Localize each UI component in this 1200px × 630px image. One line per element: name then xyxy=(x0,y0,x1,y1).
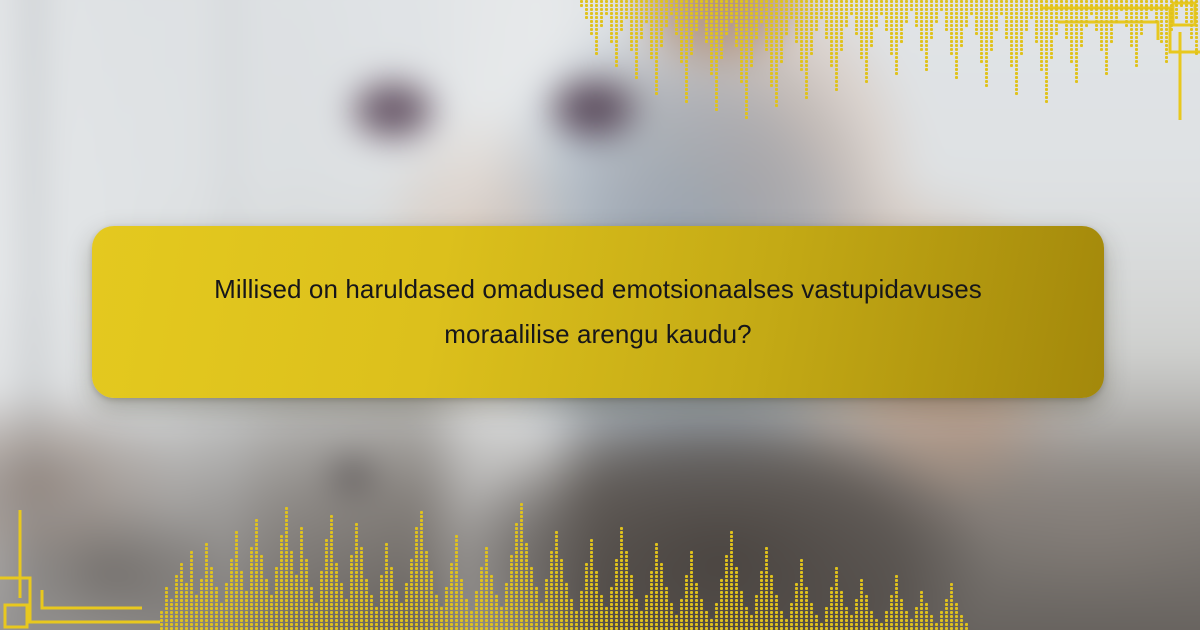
waveform-segment xyxy=(835,0,838,3)
waveform-segment xyxy=(805,603,808,606)
waveform-segment xyxy=(810,611,813,614)
question-card[interactable]: Millised on haruldased omadused emotsion… xyxy=(92,226,1104,398)
waveform-segment xyxy=(650,579,653,582)
waveform-segment xyxy=(775,100,778,103)
waveform-segment xyxy=(345,599,348,602)
waveform-segment xyxy=(475,591,478,594)
waveform-segment xyxy=(280,599,283,602)
waveform-segment xyxy=(710,28,713,31)
waveform-segment xyxy=(850,4,853,7)
waveform-segment xyxy=(640,8,643,11)
waveform-segment xyxy=(300,567,303,570)
waveform-segment xyxy=(870,0,873,3)
waveform-segment xyxy=(1045,24,1048,27)
waveform-segment xyxy=(695,611,698,614)
waveform-segment xyxy=(410,583,413,586)
waveform-segment xyxy=(655,32,658,35)
waveform-segment xyxy=(210,615,213,618)
waveform-segment xyxy=(590,619,593,622)
waveform-segment xyxy=(595,16,598,19)
waveform-segment xyxy=(600,595,603,598)
waveform-segment xyxy=(795,623,798,626)
waveform-segment xyxy=(480,579,483,582)
waveform-segment xyxy=(800,44,803,47)
waveform-segment xyxy=(850,12,853,15)
waveform-segment xyxy=(415,555,418,558)
waveform-bar xyxy=(425,551,428,630)
waveform-segment xyxy=(475,603,478,606)
waveform-segment xyxy=(1075,0,1078,3)
waveform-segment xyxy=(865,599,868,602)
waveform-segment xyxy=(645,619,648,622)
waveform-segment xyxy=(610,607,613,610)
waveform-segment xyxy=(950,24,953,27)
waveform-segment xyxy=(835,60,838,63)
waveform-bar xyxy=(1020,0,1023,55)
waveform-segment xyxy=(795,32,798,35)
waveform-segment xyxy=(250,599,253,602)
waveform-segment xyxy=(525,619,528,622)
waveform-segment xyxy=(460,611,463,614)
waveform-segment xyxy=(595,12,598,15)
waveform-segment xyxy=(985,32,988,35)
waveform-segment xyxy=(460,587,463,590)
waveform-segment xyxy=(520,563,523,566)
waveform-segment xyxy=(235,563,238,566)
waveform-segment xyxy=(275,623,278,626)
waveform-segment xyxy=(865,16,868,19)
waveform-segment xyxy=(820,12,823,15)
waveform-segment xyxy=(765,555,768,558)
waveform-segment xyxy=(1020,0,1023,3)
waveform-segment xyxy=(985,24,988,27)
waveform-segment xyxy=(310,607,313,610)
waveform-segment xyxy=(755,28,758,31)
waveform-segment xyxy=(620,603,623,606)
waveform-segment xyxy=(520,619,523,622)
waveform-segment xyxy=(1125,4,1128,7)
waveform-segment xyxy=(780,52,783,55)
waveform-segment xyxy=(585,4,588,7)
waveform-segment xyxy=(735,4,738,7)
waveform-segment xyxy=(280,591,283,594)
waveform-segment xyxy=(945,20,948,23)
waveform-bar xyxy=(1040,0,1043,71)
waveform-segment xyxy=(835,619,838,622)
waveform-segment xyxy=(1075,48,1078,51)
waveform-segment xyxy=(960,619,963,622)
waveform-segment xyxy=(925,607,928,610)
waveform-segment xyxy=(805,72,808,75)
waveform-segment xyxy=(350,603,353,606)
waveform-segment xyxy=(705,12,708,15)
waveform-segment xyxy=(305,591,308,594)
waveform-segment xyxy=(875,4,878,7)
waveform-segment xyxy=(1040,52,1043,55)
waveform-segment xyxy=(1165,28,1168,31)
waveform-segment xyxy=(165,615,168,618)
waveform-segment xyxy=(605,4,608,7)
waveform-segment xyxy=(700,16,703,19)
waveform-segment xyxy=(705,611,708,614)
waveform-segment xyxy=(260,571,263,574)
waveform-segment xyxy=(920,623,923,626)
waveform-segment xyxy=(1110,32,1113,35)
waveform-segment xyxy=(690,571,693,574)
waveform-segment xyxy=(335,623,338,626)
waveform-segment xyxy=(355,523,358,526)
waveform-segment xyxy=(520,603,523,606)
waveform-segment xyxy=(495,615,498,618)
waveform-segment xyxy=(1100,32,1103,35)
waveform-segment xyxy=(555,623,558,626)
waveform-bar xyxy=(765,547,768,630)
waveform-bar xyxy=(880,623,883,630)
waveform-segment xyxy=(610,615,613,618)
waveform-segment xyxy=(895,615,898,618)
waveform-segment xyxy=(900,24,903,27)
waveform-segment xyxy=(255,567,258,570)
waveform-segment xyxy=(320,607,323,610)
waveform-segment xyxy=(415,571,418,574)
waveform-segment xyxy=(720,611,723,614)
waveform-segment xyxy=(1015,36,1018,39)
waveform-bar xyxy=(705,611,708,630)
waveform-bar xyxy=(650,0,653,59)
waveform-segment xyxy=(190,551,193,554)
waveform-segment xyxy=(590,571,593,574)
waveform-segment xyxy=(600,8,603,11)
waveform-bar xyxy=(1025,0,1028,31)
waveform-segment xyxy=(890,40,893,43)
waveform-segment xyxy=(765,28,768,31)
waveform-bar xyxy=(760,0,763,23)
waveform-segment xyxy=(560,559,563,562)
waveform-segment xyxy=(830,8,833,11)
waveform-segment xyxy=(645,623,648,626)
waveform-segment xyxy=(965,24,968,27)
waveform-segment xyxy=(750,60,753,63)
waveform-segment xyxy=(1075,80,1078,83)
waveform-bar xyxy=(555,531,558,630)
waveform-segment xyxy=(625,16,628,19)
waveform-segment xyxy=(650,607,653,610)
waveform-bar xyxy=(945,599,948,630)
waveform-segment xyxy=(395,611,398,614)
waveform-bar xyxy=(420,511,423,630)
waveform-bar xyxy=(680,599,683,630)
waveform-segment xyxy=(800,603,803,606)
waveform-segment xyxy=(285,623,288,626)
waveform-segment xyxy=(635,76,638,79)
waveform-segment xyxy=(1050,20,1053,23)
waveform-segment xyxy=(520,599,523,602)
waveform-segment xyxy=(465,623,468,626)
waveform-segment xyxy=(800,4,803,7)
waveform-segment xyxy=(745,52,748,55)
waveform-bar xyxy=(845,0,848,27)
waveform-segment xyxy=(1070,20,1073,23)
waveform-segment xyxy=(865,607,868,610)
waveform-segment xyxy=(475,611,478,614)
waveform-segment xyxy=(745,80,748,83)
waveform-segment xyxy=(430,595,433,598)
waveform-segment xyxy=(370,595,373,598)
waveform-segment xyxy=(525,567,528,570)
waveform-segment xyxy=(885,24,888,27)
waveform-segment xyxy=(950,583,953,586)
waveform-segment xyxy=(845,12,848,15)
waveform-segment xyxy=(480,595,483,598)
waveform-segment xyxy=(655,587,658,590)
waveform-segment xyxy=(620,599,623,602)
waveform-segment xyxy=(1045,8,1048,11)
waveform-segment xyxy=(720,603,723,606)
waveform-segment xyxy=(720,8,723,11)
waveform-segment xyxy=(515,591,518,594)
waveform-segment xyxy=(945,611,948,614)
waveform-segment xyxy=(635,12,638,15)
waveform-segment xyxy=(1010,36,1013,39)
waveform-bar xyxy=(715,603,718,630)
waveform-segment xyxy=(560,567,563,570)
waveform-segment xyxy=(780,48,783,51)
waveform-segment xyxy=(575,619,578,622)
corner-bracket-icon xyxy=(0,510,160,630)
waveform-segment xyxy=(780,28,783,31)
waveform-bar xyxy=(985,0,988,87)
waveform-segment xyxy=(690,595,693,598)
waveform-segment xyxy=(630,607,633,610)
waveform-segment xyxy=(710,12,713,15)
waveform-segment xyxy=(550,615,553,618)
waveform-segment xyxy=(800,567,803,570)
waveform-segment xyxy=(225,607,228,610)
waveform-segment xyxy=(595,8,598,11)
waveform-segment xyxy=(985,60,988,63)
waveform-segment xyxy=(755,36,758,39)
waveform-segment xyxy=(170,607,173,610)
waveform-segment xyxy=(890,619,893,622)
waveform-bar xyxy=(850,615,853,630)
waveform-segment xyxy=(390,623,393,626)
waveform-bar xyxy=(935,0,938,23)
waveform-bar xyxy=(345,599,348,630)
waveform-segment xyxy=(905,619,908,622)
waveform-segment xyxy=(670,0,673,3)
waveform-bar xyxy=(605,607,608,630)
waveform-segment xyxy=(455,615,458,618)
waveform-segment xyxy=(925,32,928,35)
waveform-segment xyxy=(920,599,923,602)
waveform-segment xyxy=(615,599,618,602)
waveform-segment xyxy=(1095,0,1098,3)
waveform-segment xyxy=(450,567,453,570)
waveform-segment xyxy=(525,555,528,558)
waveform-segment xyxy=(940,619,943,622)
waveform-segment xyxy=(985,0,988,3)
waveform-segment xyxy=(1055,32,1058,35)
waveform-segment xyxy=(535,591,538,594)
waveform-segment xyxy=(595,599,598,602)
waveform-segment xyxy=(610,36,613,39)
waveform-segment xyxy=(975,16,978,19)
waveform-segment xyxy=(420,583,423,586)
waveform-segment xyxy=(355,583,358,586)
waveform-segment xyxy=(1150,8,1153,11)
waveform-segment xyxy=(835,579,838,582)
waveform-segment xyxy=(285,567,288,570)
waveform-segment xyxy=(1050,52,1053,55)
waveform-segment xyxy=(255,571,258,574)
waveform-segment xyxy=(800,559,803,562)
waveform-segment xyxy=(765,8,768,11)
waveform-segment xyxy=(990,12,993,15)
waveform-segment xyxy=(860,52,863,55)
waveform-segment xyxy=(1040,48,1043,51)
waveform-segment xyxy=(695,599,698,602)
waveform-segment xyxy=(830,607,833,610)
waveform-segment xyxy=(1010,60,1013,63)
waveform-segment xyxy=(645,8,648,11)
waveform-segment xyxy=(655,619,658,622)
waveform-segment xyxy=(815,0,818,3)
waveform-segment xyxy=(275,587,278,590)
waveform-segment xyxy=(180,567,183,570)
waveform-segment xyxy=(740,595,743,598)
waveform-segment xyxy=(720,56,723,59)
waveform-segment xyxy=(900,32,903,35)
waveform-segment xyxy=(280,563,283,566)
waveform-segment xyxy=(515,567,518,570)
waveform-segment xyxy=(660,611,663,614)
waveform-segment xyxy=(655,88,658,91)
waveform-segment xyxy=(1070,12,1073,15)
waveform-segment xyxy=(725,567,728,570)
waveform-segment xyxy=(295,599,298,602)
waveform-segment xyxy=(1110,28,1113,31)
waveform-segment xyxy=(1075,12,1078,15)
waveform-bar xyxy=(250,547,253,630)
waveform-segment xyxy=(720,44,723,47)
waveform-segment xyxy=(1045,0,1048,3)
waveform-segment xyxy=(895,64,898,67)
waveform-segment xyxy=(805,40,808,43)
waveform-bar xyxy=(1065,0,1068,39)
waveform-segment xyxy=(760,571,763,574)
waveform-segment xyxy=(520,583,523,586)
waveform-segment xyxy=(790,8,793,11)
waveform-segment xyxy=(1055,24,1058,27)
waveform-segment xyxy=(1180,4,1183,7)
waveform-segment xyxy=(680,52,683,55)
waveform-segment xyxy=(695,0,698,3)
waveform-segment xyxy=(325,623,328,626)
waveform-segment xyxy=(995,28,998,31)
waveform-segment xyxy=(685,88,688,91)
waveform-segment xyxy=(660,8,663,11)
waveform-segment xyxy=(490,583,493,586)
waveform-segment xyxy=(745,36,748,39)
waveform-segment xyxy=(520,571,523,574)
waveform-segment xyxy=(1135,12,1138,15)
waveform-bar xyxy=(900,0,903,43)
waveform-bar xyxy=(800,0,803,71)
waveform-segment xyxy=(355,619,358,622)
waveform-segment xyxy=(1065,16,1068,19)
waveform-segment xyxy=(295,607,298,610)
waveform-segment xyxy=(290,619,293,622)
waveform-segment xyxy=(830,60,833,63)
waveform-segment xyxy=(1110,16,1113,19)
waveform-segment xyxy=(800,571,803,574)
waveform-segment xyxy=(770,16,773,19)
waveform-bar xyxy=(605,0,608,15)
waveform-segment xyxy=(1140,12,1143,15)
waveform-segment xyxy=(550,559,553,562)
waveform-segment xyxy=(690,603,693,606)
waveform-segment xyxy=(895,587,898,590)
waveform-segment xyxy=(305,607,308,610)
waveform-segment xyxy=(385,599,388,602)
waveform-segment xyxy=(450,591,453,594)
waveform-segment xyxy=(945,28,948,31)
waveform-segment xyxy=(470,619,473,622)
waveform-segment xyxy=(635,599,638,602)
waveform-bar xyxy=(170,599,173,630)
waveform-segment xyxy=(670,4,673,7)
waveform-segment xyxy=(765,40,768,43)
waveform-segment xyxy=(925,623,928,626)
waveform-segment xyxy=(590,28,593,31)
waveform-segment xyxy=(1095,4,1098,7)
waveform-segment xyxy=(725,563,728,566)
waveform-segment xyxy=(220,615,223,618)
waveform-segment xyxy=(1115,12,1118,15)
waveform-segment xyxy=(595,615,598,618)
waveform-segment xyxy=(210,591,213,594)
waveform-segment xyxy=(275,583,278,586)
waveform-segment xyxy=(235,567,238,570)
waveform-bar xyxy=(785,619,788,630)
waveform-segment xyxy=(325,551,328,554)
waveform-segment xyxy=(570,619,573,622)
waveform-segment xyxy=(625,551,628,554)
waveform-segment xyxy=(760,607,763,610)
waveform-segment xyxy=(635,16,638,19)
waveform-segment xyxy=(305,571,308,574)
waveform-segment xyxy=(690,36,693,39)
waveform-segment xyxy=(800,615,803,618)
waveform-segment xyxy=(665,607,668,610)
waveform-segment xyxy=(750,619,753,622)
waveform-segment xyxy=(210,571,213,574)
waveform-segment xyxy=(715,92,718,95)
waveform-segment xyxy=(750,20,753,23)
waveform-segment xyxy=(595,603,598,606)
waveform-segment xyxy=(690,563,693,566)
waveform-segment xyxy=(685,623,688,626)
waveform-segment xyxy=(605,611,608,614)
waveform-segment xyxy=(655,543,658,546)
waveform-segment xyxy=(460,619,463,622)
waveform-segment xyxy=(535,611,538,614)
waveform-segment xyxy=(410,575,413,578)
waveform-segment xyxy=(175,623,178,626)
waveform-segment xyxy=(895,60,898,63)
waveform-segment xyxy=(920,20,923,23)
waveform-bar xyxy=(750,0,753,67)
